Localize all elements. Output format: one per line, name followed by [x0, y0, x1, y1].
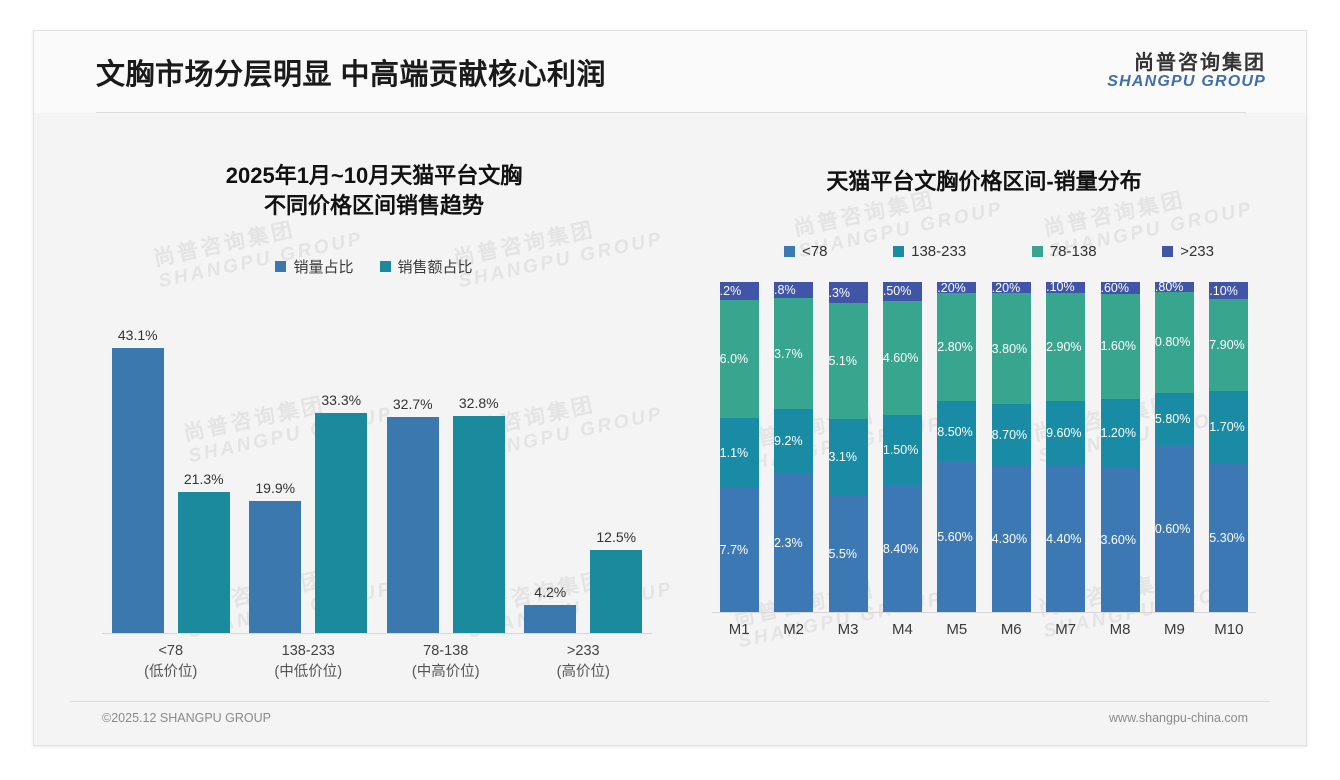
stacked-bar-segment: 2.80%	[1155, 282, 1194, 291]
stacked-bar-column[interactable]: 3.20%33.80%18.70%44.30%	[984, 282, 1038, 612]
x-axis-tick-label: M3	[821, 621, 875, 638]
segment-value-label: 21.70%	[1209, 420, 1244, 434]
segment-value-label: 30.80%	[1155, 335, 1190, 349]
segment-value-label: 3.20%	[992, 282, 1020, 293]
legend-swatch-icon	[1162, 246, 1173, 257]
legend-swatch-icon	[275, 261, 286, 272]
x-axis-tick-sublabel: (中高价位)	[377, 662, 515, 684]
legend-item-1[interactable]: 销售额占比	[380, 256, 473, 277]
bar-value-label: 32.8%	[459, 395, 499, 411]
legend-item-2[interactable]: 78-138	[1032, 243, 1097, 260]
stacked-bar: 3.60%31.60%21.20%43.60%	[1101, 282, 1140, 612]
left-chart-title-line2: 不同价格区间销售趋势	[84, 191, 664, 221]
stacked-bar-column[interactable]: 3.20%32.80%18.50%45.60%	[930, 282, 984, 612]
segment-value-label: 18.70%	[992, 428, 1027, 442]
right-chart-legend: <78138-23378-138>233	[694, 243, 1274, 260]
legend-item-0[interactable]: <78	[784, 243, 827, 260]
x-axis-tick-label: <78(低价位)	[102, 641, 240, 685]
x-axis-tick-sublabel: (低价位)	[102, 662, 240, 684]
x-axis-tick-label: M5	[930, 621, 984, 638]
stacked-bar: 3.20%32.80%18.50%45.60%	[937, 282, 976, 612]
stacked-bar-segment: 27.90%	[1209, 299, 1248, 391]
stacked-bar-segment: 19.60%	[1046, 401, 1085, 466]
x-axis-tick-label: M7	[1038, 621, 1092, 638]
x-axis-tick-label: M6	[984, 621, 1038, 638]
legend-swatch-icon	[784, 246, 795, 257]
x-axis-tick-label: >233(高价位)	[515, 641, 653, 685]
segment-value-label: 3.20%	[937, 282, 965, 293]
stacked-bar-segment: 21.1%	[720, 418, 759, 488]
stacked-bar-segment: 15.80%	[1155, 393, 1194, 445]
stacked-bar-segment: 37.7%	[720, 488, 759, 612]
bar-value-label: 12.5%	[596, 529, 636, 545]
x-axis-tick-label: 78-138(中高价位)	[377, 641, 515, 685]
segment-value-label: 18.50%	[937, 425, 972, 439]
bar-column[interactable]: 32.7%	[387, 303, 439, 633]
x-axis-tick-range: >233	[567, 643, 600, 659]
bar-value-label: 43.1%	[118, 327, 158, 343]
segment-value-label: 21.20%	[1101, 426, 1136, 440]
segment-value-label: 35.1%	[829, 354, 857, 368]
segment-value-label: 15.80%	[1155, 412, 1190, 426]
bar	[387, 417, 439, 633]
right-chart-title: 天猫平台文胸价格区间-销量分布	[694, 167, 1274, 197]
segment-value-label: 5.2%	[720, 284, 742, 298]
stacked-bar-segment: 5.10%	[1209, 282, 1248, 299]
left-chart-title: 2025年1月~10月天猫平台文胸 不同价格区间销售趋势	[74, 161, 674, 222]
stacked-bar-column[interactable]: 5.2%36.0%21.1%37.7%	[712, 282, 766, 612]
footer-website: www.shangpu-china.com	[1109, 711, 1248, 725]
stacked-bar-segment: 18.50%	[937, 401, 976, 462]
legend-label: 138-233	[911, 243, 966, 260]
segment-value-label: 43.60%	[1101, 533, 1136, 547]
bar-column[interactable]: 32.8%	[453, 303, 505, 633]
stacked-bar-segment: 3.60%	[1101, 282, 1140, 294]
bar	[178, 492, 230, 633]
stacked-bar: 3.10%32.90%19.60%44.40%	[1046, 282, 1085, 612]
legend-label: <78	[802, 243, 827, 260]
segment-value-label: 32.90%	[1046, 340, 1081, 354]
stacked-bar-column[interactable]: 3.10%32.90%19.60%44.40%	[1038, 282, 1092, 612]
stacked-bar-column[interactable]: 5.50%34.60%21.50%38.40%	[875, 282, 929, 612]
segment-value-label: 21.50%	[883, 443, 918, 457]
segment-value-label: 2.80%	[1155, 282, 1183, 291]
stacked-bar-segment: 18.70%	[992, 404, 1031, 466]
slide-header: 文胸市场分层明显 中高端贡献核心利润 尚普咨询集团 SHANGPU GROUP	[34, 31, 1306, 113]
stacked-bar-segment: 35.5%	[829, 495, 868, 612]
bar-column[interactable]: 12.5%	[590, 303, 642, 633]
x-axis-tick-label: 138-233(中低价位)	[240, 641, 378, 685]
legend-swatch-icon	[380, 261, 391, 272]
legend-item-1[interactable]: 138-233	[893, 243, 966, 260]
left-chart-title-line1: 2025年1月~10月天猫平台文胸	[84, 161, 664, 191]
stacked-bar: 5.2%36.0%21.1%37.7%	[720, 282, 759, 612]
stacked-bar-segment: 38.40%	[883, 486, 922, 613]
x-axis-tick-range: <78	[158, 643, 183, 659]
stacked-bar-segment: 3.20%	[937, 282, 976, 293]
stacked-bar-segment: 21.70%	[1209, 391, 1248, 463]
brand-logo: 尚普咨询集团 SHANGPU GROUP	[1107, 53, 1266, 91]
slide-canvas: 文胸市场分层明显 中高端贡献核心利润 尚普咨询集团 SHANGPU GROUP …	[33, 30, 1307, 746]
bar-value-label: 32.7%	[393, 396, 433, 412]
stacked-bar-segment: 19.2%	[774, 409, 813, 472]
segment-value-label: 36.0%	[720, 352, 748, 366]
segment-value-label: 3.10%	[1046, 282, 1074, 292]
segment-value-label: 33.7%	[774, 347, 802, 361]
stacked-bar-segment: 23.1%	[829, 419, 868, 495]
bar-column[interactable]: 33.3%	[315, 303, 367, 633]
stacked-bar-segment: 6.3%	[829, 282, 868, 303]
segment-value-label: 38.40%	[883, 542, 918, 556]
stacked-bar-segment: 5.50%	[883, 282, 922, 300]
bar	[453, 416, 505, 632]
stacked-bar-segment: 33.80%	[992, 293, 1031, 405]
segment-value-label: 21.1%	[720, 446, 748, 460]
x-axis-tick-label: M1	[712, 621, 766, 638]
stacked-bar-plot-area: 5.2%36.0%21.1%37.7%4.8%33.7%19.2%42.3%6.…	[712, 282, 1256, 613]
stacked-bar-segment: 43.60%	[1101, 468, 1140, 612]
stacked-bar: 6.3%35.1%23.1%35.5%	[829, 282, 868, 612]
segment-value-label: 32.80%	[937, 340, 972, 354]
x-axis-tick-range: 138-233	[282, 643, 335, 659]
legend-item-3[interactable]: >233	[1162, 243, 1214, 260]
segment-value-label: 34.60%	[883, 351, 918, 365]
stacked-bar-segment: 30.80%	[1155, 292, 1194, 394]
stacked-bar: 2.80%30.80%15.80%50.60%	[1155, 282, 1194, 612]
bar-group: 32.7%32.8%	[377, 303, 515, 633]
stacked-bar-segment: 50.60%	[1155, 445, 1194, 612]
segment-value-label: 37.7%	[720, 543, 748, 557]
bar	[249, 501, 301, 632]
left-chart-legend: 销量占比销售额占比	[74, 256, 674, 277]
stacked-bar: 5.50%34.60%21.50%38.40%	[883, 282, 922, 612]
legend-label: 销量占比	[293, 256, 353, 277]
stacked-bar-segment: 21.20%	[1101, 399, 1140, 469]
stacked-bar-segment: 4.8%	[774, 282, 813, 298]
bar	[590, 550, 642, 633]
legend-swatch-icon	[1032, 246, 1043, 257]
footer-divider	[70, 701, 1270, 702]
legend-swatch-icon	[893, 246, 904, 257]
segment-value-label: 44.40%	[1046, 532, 1081, 546]
chart-panel-sales-trend: 2025年1月~10月天猫平台文胸 不同价格区间销售趋势 销量占比销售额占比 4…	[74, 127, 674, 697]
segment-value-label: 33.80%	[992, 342, 1027, 356]
stacked-bar-segment: 5.2%	[720, 282, 759, 299]
x-axis-tick-label: M4	[875, 621, 929, 638]
stacked-bar: 3.20%33.80%18.70%44.30%	[992, 282, 1031, 612]
segment-value-label: 3.60%	[1101, 282, 1129, 294]
segment-value-label: 44.30%	[992, 532, 1027, 546]
slide-footer: ©2025.12 SHANGPU GROUP www.shangpu-china…	[70, 711, 1270, 731]
chart-panel-price-distribution: 天猫平台文胸价格区间-销量分布 <78138-23378-138>233 5.2…	[694, 127, 1274, 697]
bar	[524, 605, 576, 633]
x-axis-tick-range: 78-138	[423, 643, 468, 659]
stacked-bar-x-axis: M1M2M3M4M5M6M7M8M9M10	[712, 621, 1256, 638]
bar-column[interactable]: 43.1%	[112, 303, 164, 633]
stacked-bar-segment: 34.60%	[883, 301, 922, 415]
bar-value-label: 21.3%	[184, 471, 224, 487]
stacked-bar-column[interactable]: 4.8%33.7%19.2%42.3%	[766, 282, 820, 612]
header-divider	[96, 112, 1246, 113]
legend-item-0[interactable]: 销量占比	[275, 256, 353, 277]
slide: 文胸市场分层明显 中高端贡献核心利润 尚普咨询集团 SHANGPU GROUP …	[0, 0, 1340, 780]
bar-group: 43.1%21.3%	[102, 303, 240, 633]
stacked-bar-segment: 32.80%	[937, 293, 976, 401]
segment-value-label: 5.10%	[1209, 284, 1237, 298]
stacked-bar-segment: 31.60%	[1101, 294, 1140, 398]
segment-value-label: 19.60%	[1046, 426, 1081, 440]
bar-value-label: 19.9%	[255, 480, 295, 496]
stacked-bar-segment: 45.30%	[1209, 463, 1248, 612]
segment-value-label: 35.5%	[829, 547, 857, 561]
x-axis-tick-sublabel: (高价位)	[515, 662, 653, 684]
stacked-bar-chart: 5.2%36.0%21.1%37.7%4.8%33.7%19.2%42.3%6.…	[712, 282, 1256, 634]
stacked-bar-column[interactable]: 5.10%27.90%21.70%45.30%	[1202, 282, 1256, 612]
segment-value-label: 42.3%	[774, 536, 802, 550]
stacked-bar-segment: 3.20%	[992, 282, 1031, 293]
segment-value-label: 5.50%	[883, 284, 911, 298]
segment-value-label: 6.3%	[829, 286, 851, 300]
bar-column[interactable]: 19.9%	[249, 303, 301, 633]
bar-column[interactable]: 4.2%	[524, 303, 576, 633]
stacked-bar-column[interactable]: 6.3%35.1%23.1%35.5%	[821, 282, 875, 612]
stacked-bar-segment: 44.30%	[992, 466, 1031, 612]
x-axis-tick-label: M8	[1093, 621, 1147, 638]
segment-value-label: 31.60%	[1101, 339, 1136, 353]
grouped-bar-chart: 43.1%21.3%19.9%33.3%32.7%32.8%4.2%12.5% …	[102, 303, 652, 655]
stacked-bar: 5.10%27.90%21.70%45.30%	[1209, 282, 1248, 612]
logo-english-text: SHANGPU GROUP	[1107, 74, 1266, 91]
stacked-bar-segment: 35.1%	[829, 303, 868, 419]
stacked-bar-segment: 33.7%	[774, 298, 813, 409]
bar-value-label: 33.3%	[321, 392, 361, 408]
grouped-bar-plot-area: 43.1%21.3%19.9%33.3%32.7%32.8%4.2%12.5%	[102, 303, 652, 634]
segment-value-label: 23.1%	[829, 450, 857, 464]
page-title: 文胸市场分层明显 中高端贡献核心利润	[96, 51, 606, 93]
segment-value-label: 27.90%	[1209, 338, 1244, 352]
bar	[112, 348, 164, 632]
stacked-bar-segment: 45.60%	[937, 462, 976, 612]
stacked-bar-segment: 44.40%	[1046, 466, 1085, 613]
legend-label: 78-138	[1050, 243, 1097, 260]
grouped-bar-x-axis: <78(低价位)138-233(中低价位)78-138(中高价位)>233(高价…	[102, 641, 652, 685]
stacked-bar-segment: 32.90%	[1046, 293, 1085, 402]
legend-label: 销售额占比	[398, 256, 473, 277]
stacked-bar-column[interactable]: 3.60%31.60%21.20%43.60%	[1093, 282, 1147, 612]
bar-column[interactable]: 21.3%	[178, 303, 230, 633]
stacked-bar-column[interactable]: 2.80%30.80%15.80%50.60%	[1147, 282, 1201, 612]
segment-value-label: 19.2%	[774, 434, 802, 448]
bar-value-label: 4.2%	[534, 584, 566, 600]
x-axis-tick-label: M2	[766, 621, 820, 638]
stacked-bar-segment: 36.0%	[720, 300, 759, 419]
footer-copyright: ©2025.12 SHANGPU GROUP	[102, 711, 271, 725]
stacked-bar-segment: 3.10%	[1046, 282, 1085, 292]
bar-group: 4.2%12.5%	[515, 303, 653, 633]
segment-value-label: 50.60%	[1155, 522, 1190, 536]
bar	[315, 413, 367, 633]
legend-label: >233	[1180, 243, 1214, 260]
segment-value-label: 4.8%	[774, 283, 796, 297]
segment-value-label: 45.30%	[1209, 531, 1244, 545]
segment-value-label: 45.60%	[937, 530, 972, 544]
stacked-bar-segment: 21.50%	[883, 415, 922, 486]
x-axis-tick-label: M10	[1202, 621, 1256, 638]
logo-chinese-text: 尚普咨询集团	[1107, 53, 1266, 74]
stacked-bar: 4.8%33.7%19.2%42.3%	[774, 282, 813, 612]
x-axis-tick-sublabel: (中低价位)	[240, 662, 378, 684]
x-axis-tick-label: M9	[1147, 621, 1201, 638]
bar-group: 19.9%33.3%	[240, 303, 378, 633]
stacked-bar-segment: 42.3%	[774, 473, 813, 613]
